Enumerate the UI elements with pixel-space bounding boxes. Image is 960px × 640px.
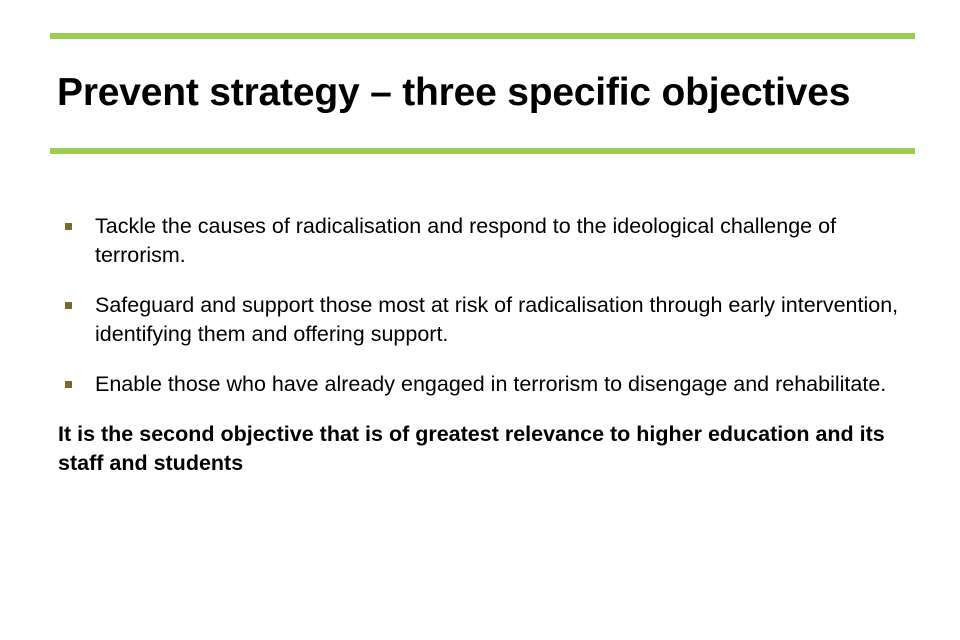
title-rule-bottom [50, 148, 915, 154]
list-item-text: Enable those who have already engaged in… [95, 372, 886, 396]
square-bullet-icon [65, 381, 72, 388]
title-rule-top [50, 33, 915, 39]
list-item: Tackle the causes of radicalisation and … [0, 212, 960, 270]
page-title: Prevent strategy – three specific object… [57, 70, 917, 116]
list-item: Enable those who have already engaged in… [0, 370, 960, 399]
list-item-text: Tackle the causes of radicalisation and … [95, 214, 836, 267]
slide: Prevent strategy – three specific object… [0, 0, 960, 640]
square-bullet-icon [65, 223, 72, 230]
square-bullet-icon [65, 302, 72, 309]
objectives-list: Tackle the causes of radicalisation and … [0, 212, 960, 399]
list-item: Safeguard and support those most at risk… [0, 291, 960, 349]
slide-body: Tackle the causes of radicalisation and … [0, 212, 960, 478]
closing-statement: It is the second objective that is of gr… [0, 420, 960, 478]
list-item-text: Safeguard and support those most at risk… [95, 293, 898, 346]
